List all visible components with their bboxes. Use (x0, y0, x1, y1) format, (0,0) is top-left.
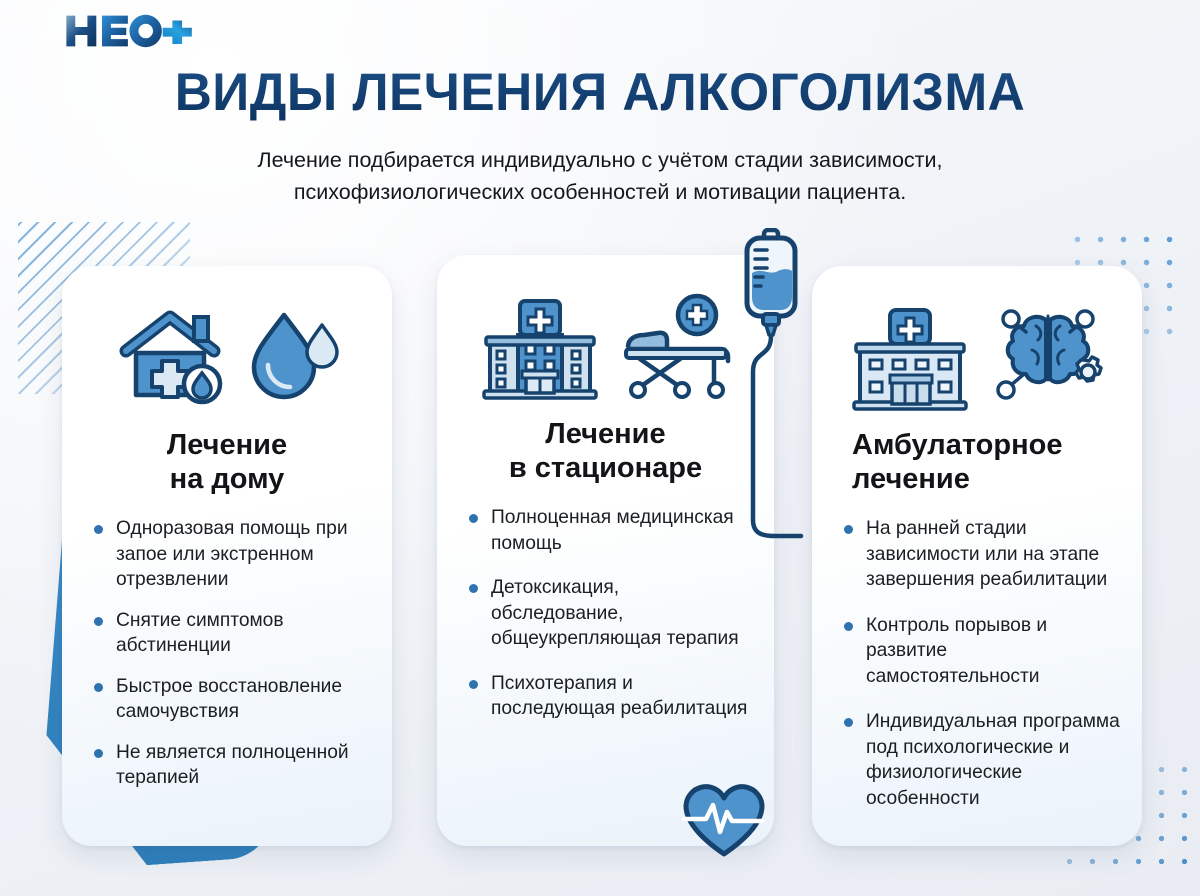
card-outpatient-treatment[interactable]: Амбулаторное лечение На ранней стадии за… (812, 266, 1142, 846)
card2-title-line-2: в стационаре (459, 451, 752, 485)
house-medical-icon (110, 303, 234, 413)
clinic-building-icon (846, 302, 974, 414)
list-item: Не является полноценной терапией (92, 740, 370, 791)
card3-bullet-list: На ранней стадии зависимости или на этап… (834, 516, 1120, 811)
card3-title: Амбулаторное лечение (834, 428, 1120, 496)
list-item: Детоксикация, обследование, общеукрепляю… (467, 575, 752, 652)
card-home-treatment[interactable]: Лечение на дому Одноразовая помощь при з… (62, 266, 392, 846)
neo-plus-logo (63, 14, 196, 48)
hospital-bed-icon (618, 291, 736, 403)
card1-title-line-1: Лечение (84, 428, 370, 462)
hospital-building-icon (476, 291, 604, 403)
card2-title: Лечение в стационаре (459, 417, 752, 485)
list-item: Контроль порывов и развитие самостоятель… (842, 613, 1120, 690)
card2-bullet-list: Полноценная медицинская помощь Детоксика… (459, 505, 752, 722)
brain-gear-icon (988, 302, 1108, 414)
card-inpatient-treatment[interactable]: Лечение в стационаре Полноценная медицин… (437, 255, 774, 846)
list-item: Индивидуальная программа под психологиче… (842, 709, 1120, 811)
list-item: Психотерапия и последующая реабилитация (467, 671, 752, 722)
page-subtitle: Лечение подбирается индивидуально с учёт… (0, 144, 1200, 208)
card1-icon-group (84, 294, 370, 422)
card2-title-line-1: Лечение (459, 417, 752, 451)
infographic-canvas: ВИДЫ ЛЕЧЕНИЯ АЛКОГОЛИЗМА Лечение подбира… (0, 0, 1200, 896)
subtitle-line-2: психофизиологических особенностей и моти… (0, 176, 1200, 208)
list-item: Снятие симптомов абстиненции (92, 608, 370, 659)
list-item: Одноразовая помощь при запое или экстрен… (92, 516, 370, 593)
card1-bullet-list: Одноразовая помощь при запое или экстрен… (84, 516, 370, 791)
card3-title-line-2: лечение (852, 462, 1120, 496)
list-item: Быстрое восстановление самочувствия (92, 674, 370, 725)
card3-icon-group (834, 294, 1120, 422)
list-item: На ранней стадии зависимости или на этап… (842, 516, 1120, 593)
card1-title-line-2: на дому (84, 462, 370, 496)
gear-icon (1076, 357, 1101, 381)
heartbeat-heart-icon (682, 782, 766, 860)
card1-title: Лечение на дому (84, 428, 370, 496)
page-title: ВИДЫ ЛЕЧЕНИЯ АЛКОГОЛИЗМА (18, 62, 1182, 123)
iv-drip-icon (735, 228, 815, 558)
list-item: Полноценная медицинская помощь (467, 505, 752, 556)
card3-title-line-1: Амбулаторное (852, 428, 1120, 462)
water-drop-icon (248, 303, 344, 413)
subtitle-line-1: Лечение подбирается индивидуально с учёт… (0, 144, 1200, 176)
card2-icon-group (459, 283, 752, 411)
